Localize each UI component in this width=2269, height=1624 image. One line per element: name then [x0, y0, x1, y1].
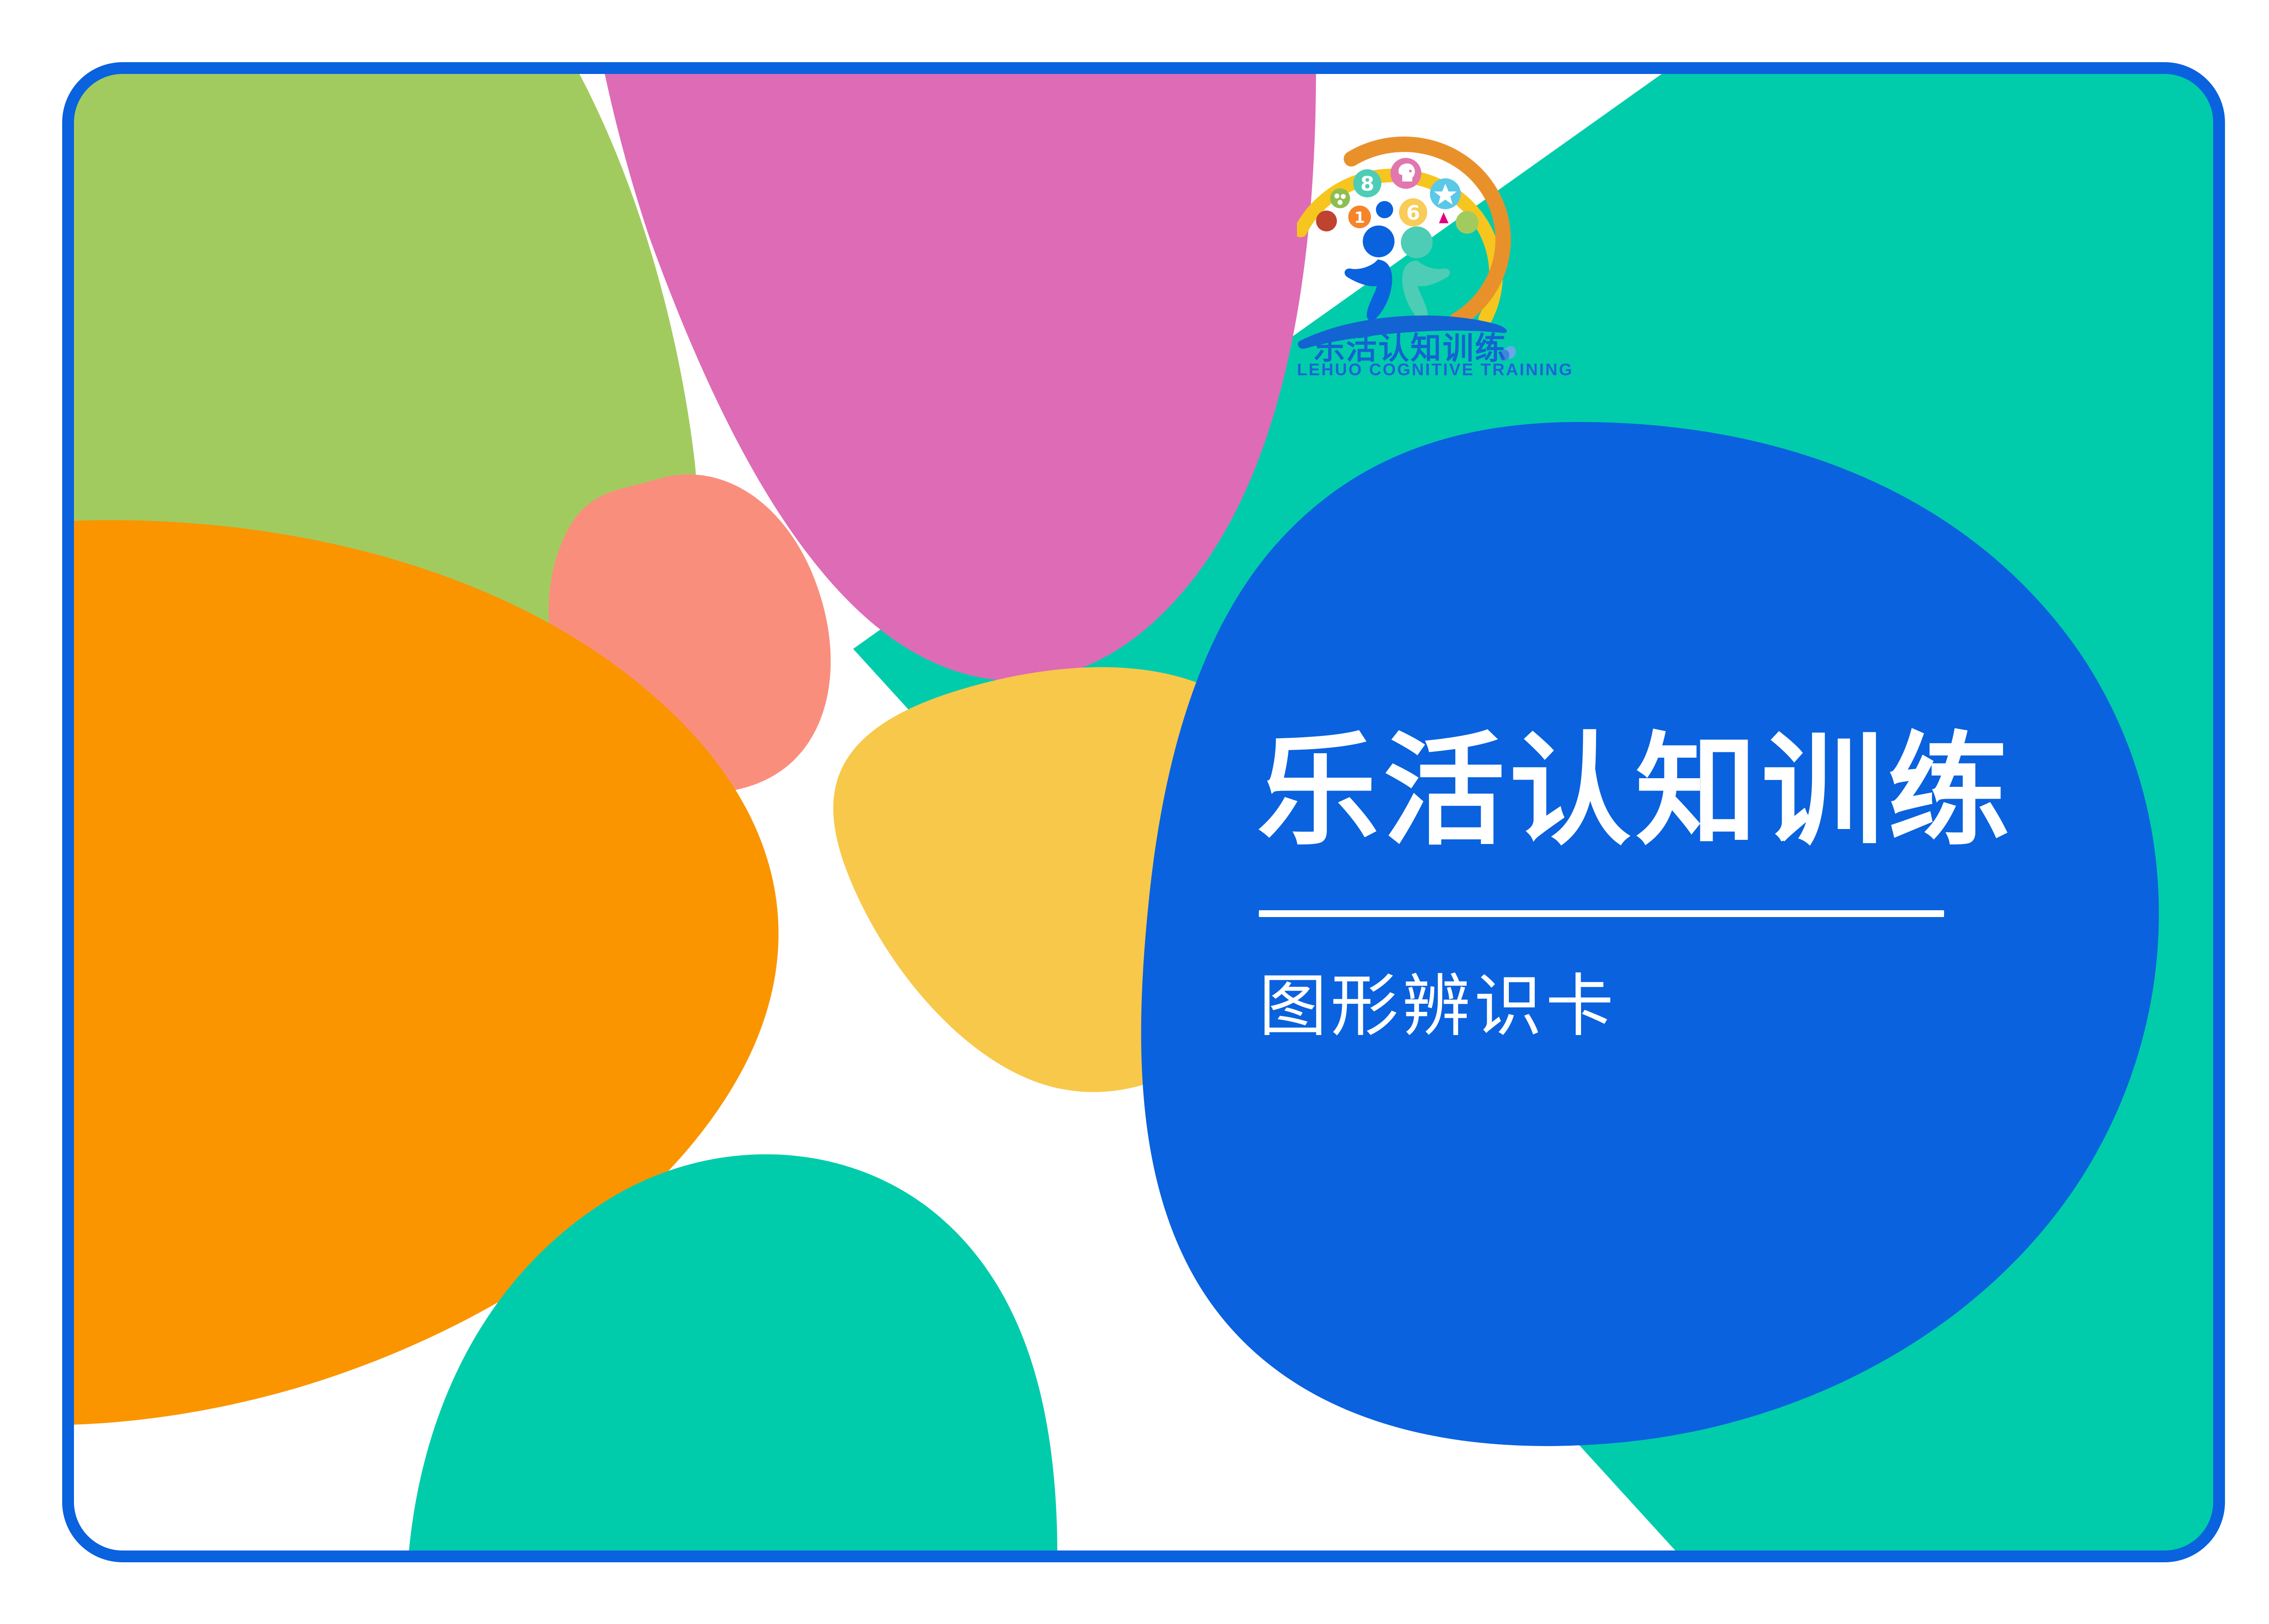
- green-dot-a: [1335, 194, 1340, 199]
- logo-arc-ring: [1301, 176, 1496, 319]
- orange-one-badge-label: 1: [1354, 209, 1365, 227]
- green-dot-b: [1341, 194, 1346, 199]
- green-dots-badge: [1330, 188, 1350, 208]
- brand-logo: 1 8 6: [1297, 128, 1554, 385]
- cover-card-page: 乐活认知训练 图形辨识卡 1 8 6: [0, 0, 2269, 1624]
- dark-red-dot: [1316, 211, 1337, 231]
- figure-teal-person: [1401, 226, 1450, 321]
- blue-dot: [1376, 201, 1393, 218]
- teal-eight-badge-label: 8: [1360, 172, 1375, 196]
- magenta-triangle: [1439, 212, 1449, 223]
- yellow-six-badge-label: 6: [1406, 201, 1420, 225]
- page-title: 乐活认知训练: [1257, 731, 1965, 852]
- light-green-dot: [1456, 211, 1478, 234]
- logo-name-en: LEHUO COGNITIVE TRAINING: [1297, 360, 1524, 379]
- figure-blue-person: [1345, 226, 1395, 320]
- title-divider: [1259, 910, 1944, 917]
- page-subtitle: 图形辨识卡: [1259, 972, 1965, 1040]
- cover-title-block: 乐活认知训练 图形辨识卡: [1257, 731, 1965, 1040]
- green-dot-c: [1338, 200, 1343, 205]
